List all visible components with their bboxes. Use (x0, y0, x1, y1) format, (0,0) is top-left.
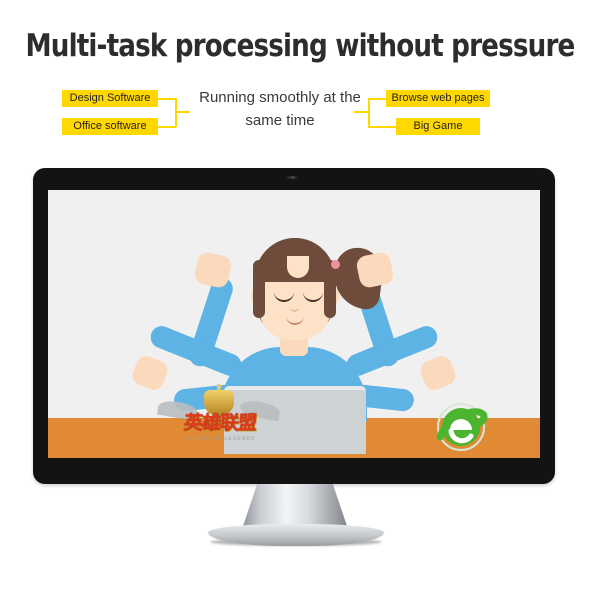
league-of-legends-subtitle: LEAGUE OF LEGENDS (180, 436, 260, 442)
callout-browse-web-pages[interactable]: Browse web pages (386, 90, 490, 107)
page-title: Multi-task processing without pressure (18, 28, 582, 64)
monitor-body:  英雄联盟 LEAGUE OF LEGENDS Ps (33, 168, 555, 484)
internet-explorer-icon[interactable] (433, 400, 489, 456)
poster-canvas: Multi-task processing without pressure D… (0, 0, 600, 600)
hair-side-left (253, 260, 265, 318)
character-illustration:  英雄联盟 LEAGUE OF LEGENDS Ps (48, 190, 540, 458)
callout-band: Design Software Office software Running … (0, 84, 600, 144)
hand-middle-left (130, 353, 171, 393)
league-of-legends-icon[interactable]: 英雄联盟 LEAGUE OF LEGENDS (160, 388, 278, 454)
webcam-icon (287, 176, 297, 179)
connector-line-right-bottom (368, 126, 396, 128)
monitor-stand-base (208, 524, 384, 546)
connector-bracket-right (368, 98, 370, 127)
monitor-screen:  英雄联盟 LEAGUE OF LEGENDS Ps (48, 190, 540, 458)
hand-upper-right (355, 251, 395, 289)
hair-tie (331, 260, 340, 269)
hand-middle-right (418, 353, 459, 393)
callout-center-text: Running smoothly at the same time (190, 86, 370, 132)
hair-parting (287, 256, 309, 278)
connector-line-right-center (354, 111, 369, 113)
connector-line-left-top (158, 98, 176, 100)
connector-line-left-center (176, 111, 190, 113)
callout-office-software[interactable]: Office software (62, 118, 158, 135)
connector-bracket-left (175, 98, 177, 127)
callout-design-software[interactable]: Design Software (62, 90, 158, 107)
league-of-legends-label: 英雄联盟 (177, 414, 263, 433)
connector-line-right-top (368, 98, 386, 100)
connector-line-left-bottom (158, 126, 176, 128)
callout-big-game[interactable]: Big Game (396, 118, 480, 135)
